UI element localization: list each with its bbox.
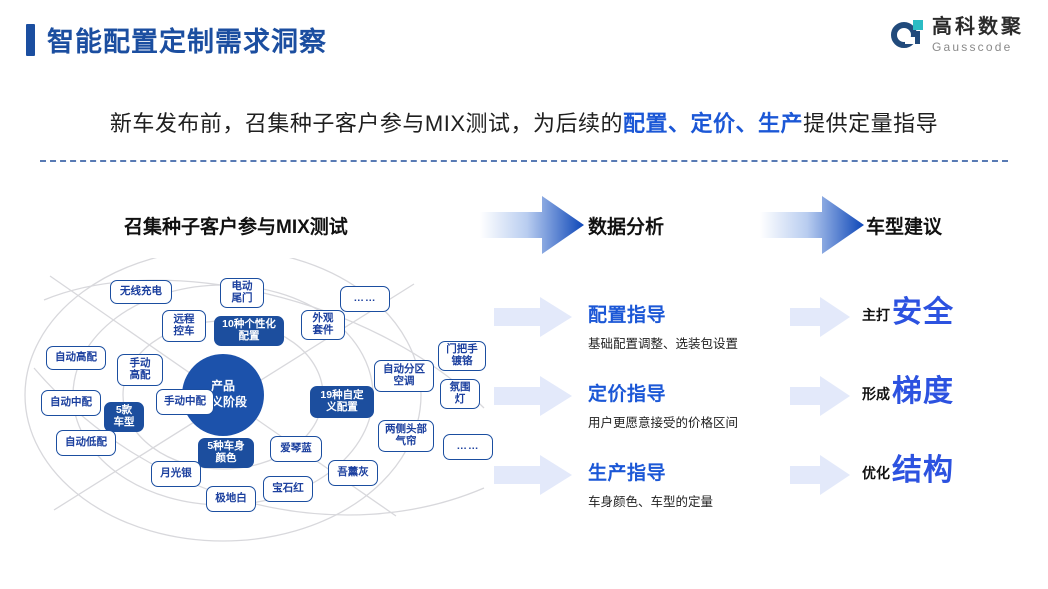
subtitle-after: 提供定量指导 (803, 111, 938, 136)
title-accent-bar (26, 24, 35, 56)
diagram-node[interactable]: 手动中配 (156, 389, 214, 415)
diagram-node[interactable]: 10种个性化 配置 (214, 316, 284, 346)
recommendation-prefix: 优化 (862, 463, 890, 486)
subtitle-highlight: 配置、定价、生产 (623, 111, 803, 136)
diagram-node[interactable]: 远程 控车 (162, 310, 206, 342)
analysis-item-title: 定价指导 (588, 379, 738, 406)
analysis-item-config[interactable]: 配置指导 基础配置调整、选装包设置 (588, 300, 738, 352)
row-arrow-right-2-icon (790, 376, 850, 416)
diagram-node[interactable]: 外观 套件 (301, 310, 345, 340)
logo-name-cn: 高科数聚 (932, 17, 1024, 37)
recommendation-item-safety[interactable]: 主打 安全 (862, 298, 954, 328)
analysis-item-sub: 用户更愿意接受的价格区间 (588, 412, 738, 431)
slide-root: 智能配置定制需求洞察 高科数聚 Gausscode 新车发布前，召集种子客户参与… (0, 0, 1048, 589)
recommendation-prefix: 形成 (862, 384, 890, 407)
diagram-node[interactable]: …… (443, 434, 493, 460)
diagram-node[interactable]: 电动 尾门 (220, 278, 264, 308)
subtitle: 新车发布前，召集种子客户参与MIX测试，为后续的配置、定价、生产提供定量指导 (0, 106, 1048, 138)
logo-glyph-icon (891, 19, 923, 51)
row-arrow-left-3-icon (494, 455, 572, 495)
diagram-node[interactable]: 爱琴蓝 (270, 436, 322, 462)
row-arrow-left-1-icon (494, 297, 572, 337)
page-title-text: 智能配置定制需求洞察 (47, 20, 327, 59)
diagram-node[interactable]: 无线充电 (110, 280, 172, 304)
diagram-node[interactable]: 19种自定 义配置 (310, 386, 374, 418)
recommendation-prefix: 主打 (862, 305, 890, 328)
diagram-node[interactable]: 自动分区 空调 (374, 360, 434, 392)
page-title: 智能配置定制需求洞察 (26, 20, 327, 59)
diagram-node[interactable]: 门把手 镀铬 (438, 341, 486, 371)
column-header-left: 召集种子客户参与MIX测试 (124, 212, 348, 239)
recommendation-keyword: 结构 (892, 456, 954, 486)
recommendation-keyword: 梯度 (892, 377, 954, 407)
recommendation-item-tier[interactable]: 形成 梯度 (862, 377, 954, 407)
row-arrow-right-3-icon (790, 455, 850, 495)
analysis-item-title: 配置指导 (588, 300, 738, 327)
row-arrow-left-2-icon (494, 376, 572, 416)
analysis-item-title: 生产指导 (588, 458, 713, 485)
diagram-node[interactable]: 氛围 灯 (440, 379, 480, 409)
diagram-node[interactable]: 两侧头部 气帘 (378, 420, 434, 452)
diagram-node[interactable]: 宝石红 (263, 476, 313, 502)
analysis-item-pricing[interactable]: 定价指导 用户更愿意接受的价格区间 (588, 379, 738, 431)
recommendation-keyword: 安全 (892, 298, 954, 328)
column-header-mid: 数据分析 (588, 212, 664, 239)
diagram-node[interactable]: 自动低配 (56, 430, 116, 456)
section-divider (40, 160, 1008, 162)
recommendation-item-structure[interactable]: 优化 结构 (862, 456, 954, 486)
diagram-node[interactable]: 手动 高配 (117, 354, 163, 386)
slide-header: 智能配置定制需求洞察 高科数聚 Gausscode (0, 0, 1048, 78)
mix-test-diagram: 产品 定义阶段 无线充电电动 尾门……远程 控车10种个性化 配置外观 套件门把… (14, 258, 504, 548)
analysis-item-production[interactable]: 生产指导 车身颜色、车型的定量 (588, 458, 713, 510)
diagram-node[interactable]: 5种车身 颜色 (198, 438, 254, 468)
diagram-node[interactable]: 自动中配 (41, 390, 101, 416)
column-header-right: 车型建议 (866, 212, 942, 239)
diagram-node[interactable]: 极地白 (206, 486, 256, 512)
header-arrow-1-icon (480, 196, 584, 254)
subtitle-before: 新车发布前，召集种子客户参与MIX测试，为后续的 (110, 111, 623, 136)
analysis-item-sub: 车身颜色、车型的定量 (588, 491, 713, 510)
diagram-node[interactable]: 月光银 (151, 461, 201, 487)
header-arrow-2-icon (760, 196, 864, 254)
diagram-node[interactable]: 自动高配 (46, 346, 106, 370)
diagram-node[interactable]: 吾薰灰 (328, 460, 378, 486)
analysis-item-sub: 基础配置调整、选装包设置 (588, 333, 738, 352)
logo-name-en: Gausscode (932, 41, 1024, 53)
diagram-node[interactable]: …… (340, 286, 390, 312)
diagram-node[interactable]: 5款 车型 (104, 402, 144, 432)
row-arrow-right-1-icon (790, 297, 850, 337)
brand-logo: 高科数聚 Gausscode (891, 17, 1024, 53)
